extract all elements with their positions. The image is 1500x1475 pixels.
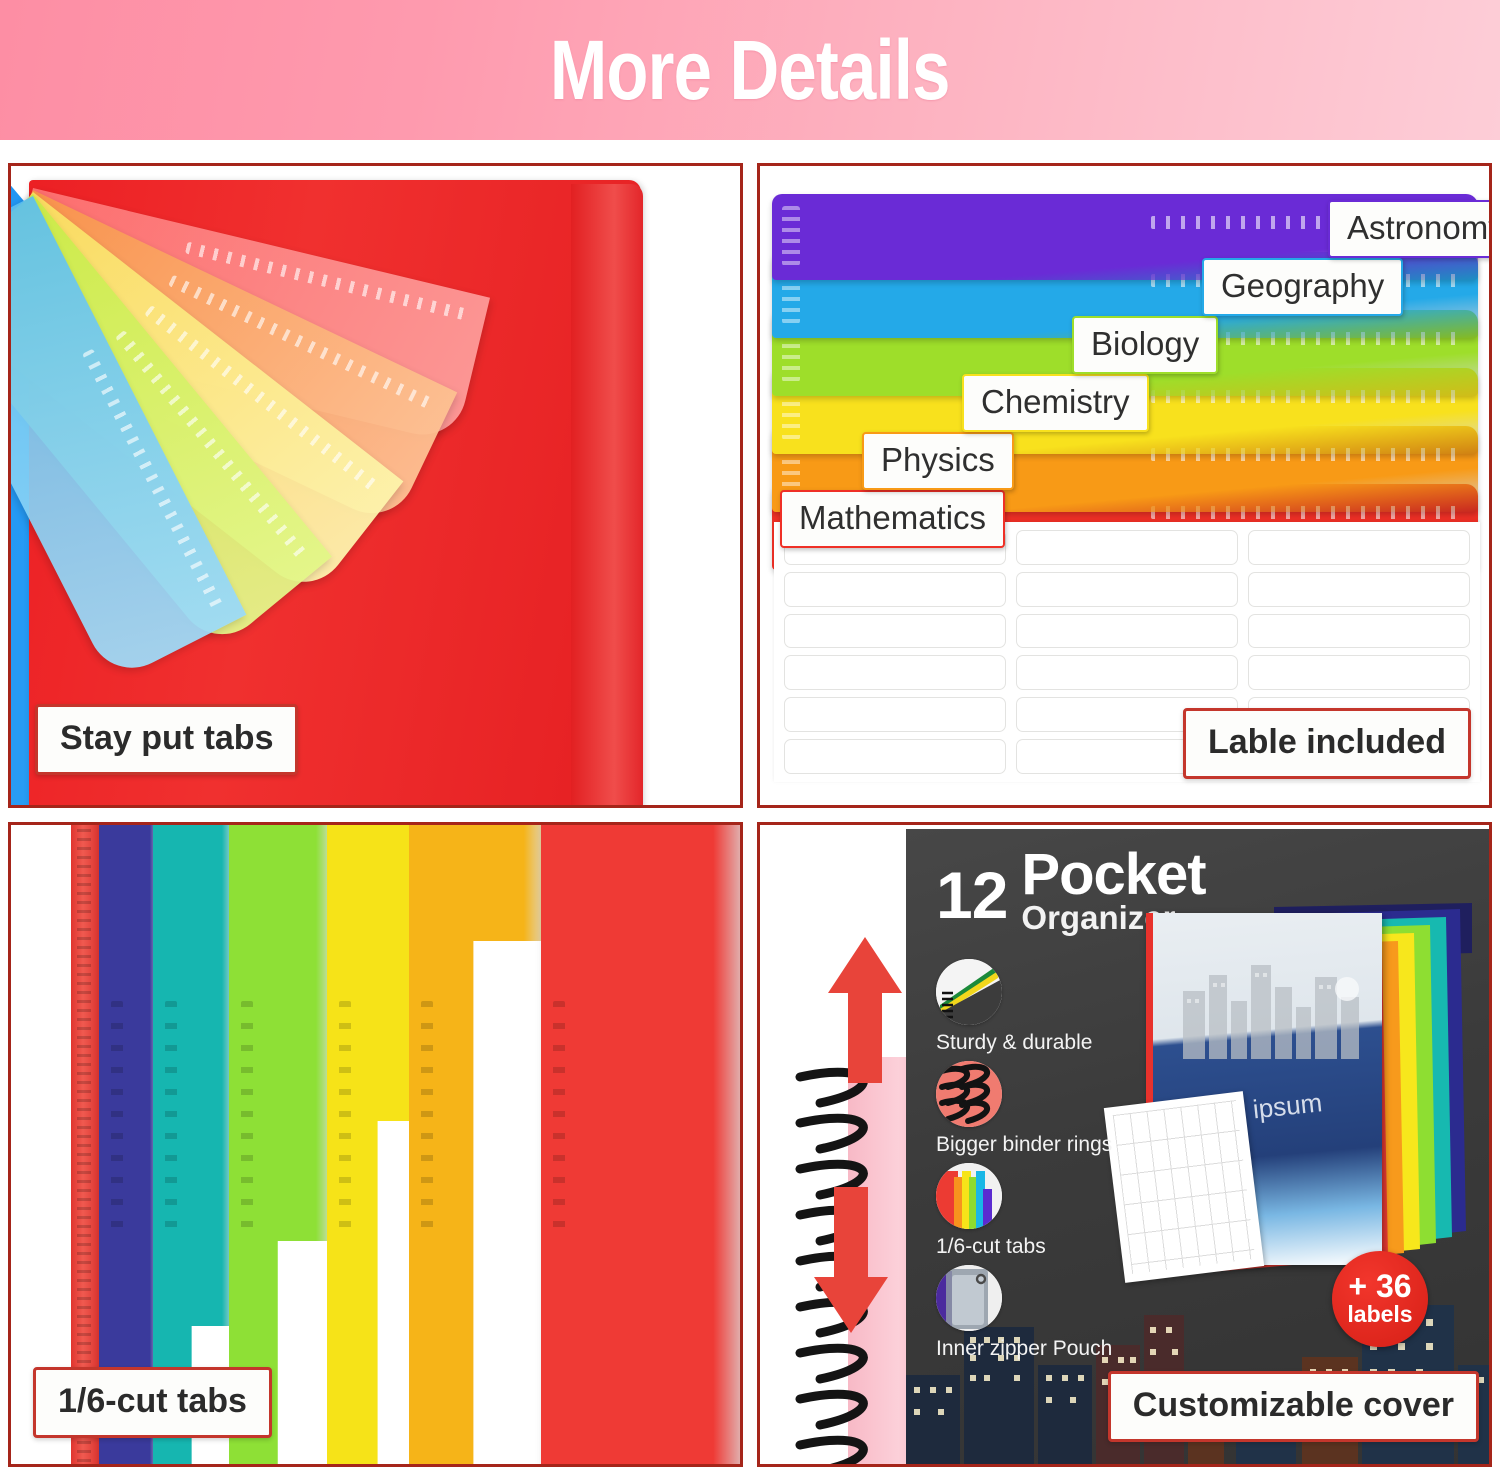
cover-cityscape-icon: [1175, 949, 1385, 1059]
label-cell[interactable]: [1016, 530, 1238, 565]
caption-stay-put-tabs: Stay put tabs: [35, 704, 298, 775]
feature-one-sixth-cut-tabs: 1/6-cut tabs: [936, 1163, 1046, 1259]
binder-rings-icon: [936, 1061, 1002, 1127]
divider-tab-geography[interactable]: Geography: [1202, 258, 1403, 316]
perforation-strip: [111, 1001, 123, 1241]
badge-count: + 36: [1348, 1270, 1411, 1302]
label-cell[interactable]: [1016, 655, 1238, 690]
caption-one-sixth-cut-tabs: 1/6-cut tabs: [33, 1367, 272, 1438]
caption-label-included: Lable included: [1183, 708, 1471, 779]
divider-tab-label: Astronomy: [1347, 209, 1492, 246]
label-cell[interactable]: [1248, 655, 1470, 690]
divider-tab-chemistry[interactable]: Chemistry: [962, 374, 1149, 432]
label-cell[interactable]: [784, 572, 1006, 607]
divider-tab-astronomy[interactable]: Astronomy: [1328, 200, 1492, 258]
label-cell[interactable]: [784, 739, 1006, 774]
label-cell[interactable]: [1248, 572, 1470, 607]
feature-inner-zipper-pouch: Inner zipper Pouch: [936, 1265, 1112, 1361]
red-folder-edge: [571, 184, 643, 808]
product-detail-image: More Details Stay put tabs AstronomyGeog…: [0, 0, 1500, 1475]
vertical-divider-tab[interactable]: [541, 822, 743, 1467]
colored-tabs-icon: [936, 1163, 1002, 1229]
label-cell[interactable]: [784, 655, 1006, 690]
zipper-pouch-icon: [936, 1265, 1002, 1331]
divider-tab-label: Physics: [881, 441, 995, 478]
labels-count-badge: + 36 labels: [1332, 1251, 1428, 1347]
badge-unit: labels: [1347, 1302, 1412, 1327]
divider-tab-label: Biology: [1091, 325, 1199, 362]
organizer-cover-mockup: Lorem ipsum sit amet + 36 labels: [1132, 893, 1474, 1293]
ring-holes: [782, 206, 800, 266]
feature-label: Sturdy & durable: [936, 1031, 1092, 1055]
divider-tab-label: Chemistry: [981, 383, 1130, 420]
arrow-down-icon: [812, 1185, 890, 1335]
panel-one-sixth-cut-tabs: 1/6-cut tabs: [8, 822, 743, 1467]
label-cell[interactable]: [784, 697, 1006, 732]
arrow-up-icon: [826, 935, 904, 1085]
divider-tab-label: Geography: [1221, 267, 1384, 304]
perforation-strip: [339, 1001, 351, 1241]
feature-label: 1/6-cut tabs: [936, 1235, 1046, 1259]
label-sheet-fan: [1104, 1091, 1264, 1283]
feature-panel-grid: Stay put tabs AstronomyGeographyBiologyC…: [8, 163, 1492, 1467]
perforation-strip: [165, 1001, 177, 1241]
divider-tab-biology[interactable]: Biology: [1072, 316, 1218, 374]
feature-label: Bigger binder rings: [936, 1133, 1112, 1157]
divider-tab-physics[interactable]: Physics: [862, 432, 1014, 490]
label-cell[interactable]: [1016, 572, 1238, 607]
panel-label-included: AstronomyGeographyBiologyChemistryPhysic…: [757, 163, 1492, 808]
perforation-strip: [553, 1001, 565, 1241]
panel-customizable-cover: 12 Pocket Organizer: [757, 822, 1492, 1467]
stacked-sheets-icon: [936, 959, 1002, 1025]
perforation-strip: [241, 1001, 253, 1241]
caption-customizable-cover: Customizable cover: [1108, 1371, 1479, 1442]
feature-bigger-binder-rings: Bigger binder rings: [936, 1061, 1112, 1157]
divider-tab-label: Mathematics: [799, 499, 986, 536]
divider-tab-mathematics[interactable]: Mathematics: [780, 490, 1005, 548]
package-pocket-count: 12: [936, 857, 1007, 933]
label-cell[interactable]: [784, 614, 1006, 649]
panel-stay-put-tabs: Stay put tabs: [8, 163, 743, 808]
feature-sturdy-durable: Sturdy & durable: [936, 959, 1092, 1055]
label-cell[interactable]: [1248, 614, 1470, 649]
page-title: More Details: [550, 22, 950, 119]
product-package-box: 12 Pocket Organizer: [906, 829, 1490, 1465]
label-cell[interactable]: [1016, 614, 1238, 649]
vertical-divider-tab[interactable]: [409, 822, 549, 1467]
divider-stack: AstronomyGeographyBiologyChemistryPhysic…: [772, 194, 1484, 554]
label-cell[interactable]: [1248, 530, 1470, 565]
feature-label: Inner zipper Pouch: [936, 1337, 1112, 1361]
page-header-banner: More Details: [0, 0, 1500, 140]
perforation-strip: [421, 1001, 433, 1241]
